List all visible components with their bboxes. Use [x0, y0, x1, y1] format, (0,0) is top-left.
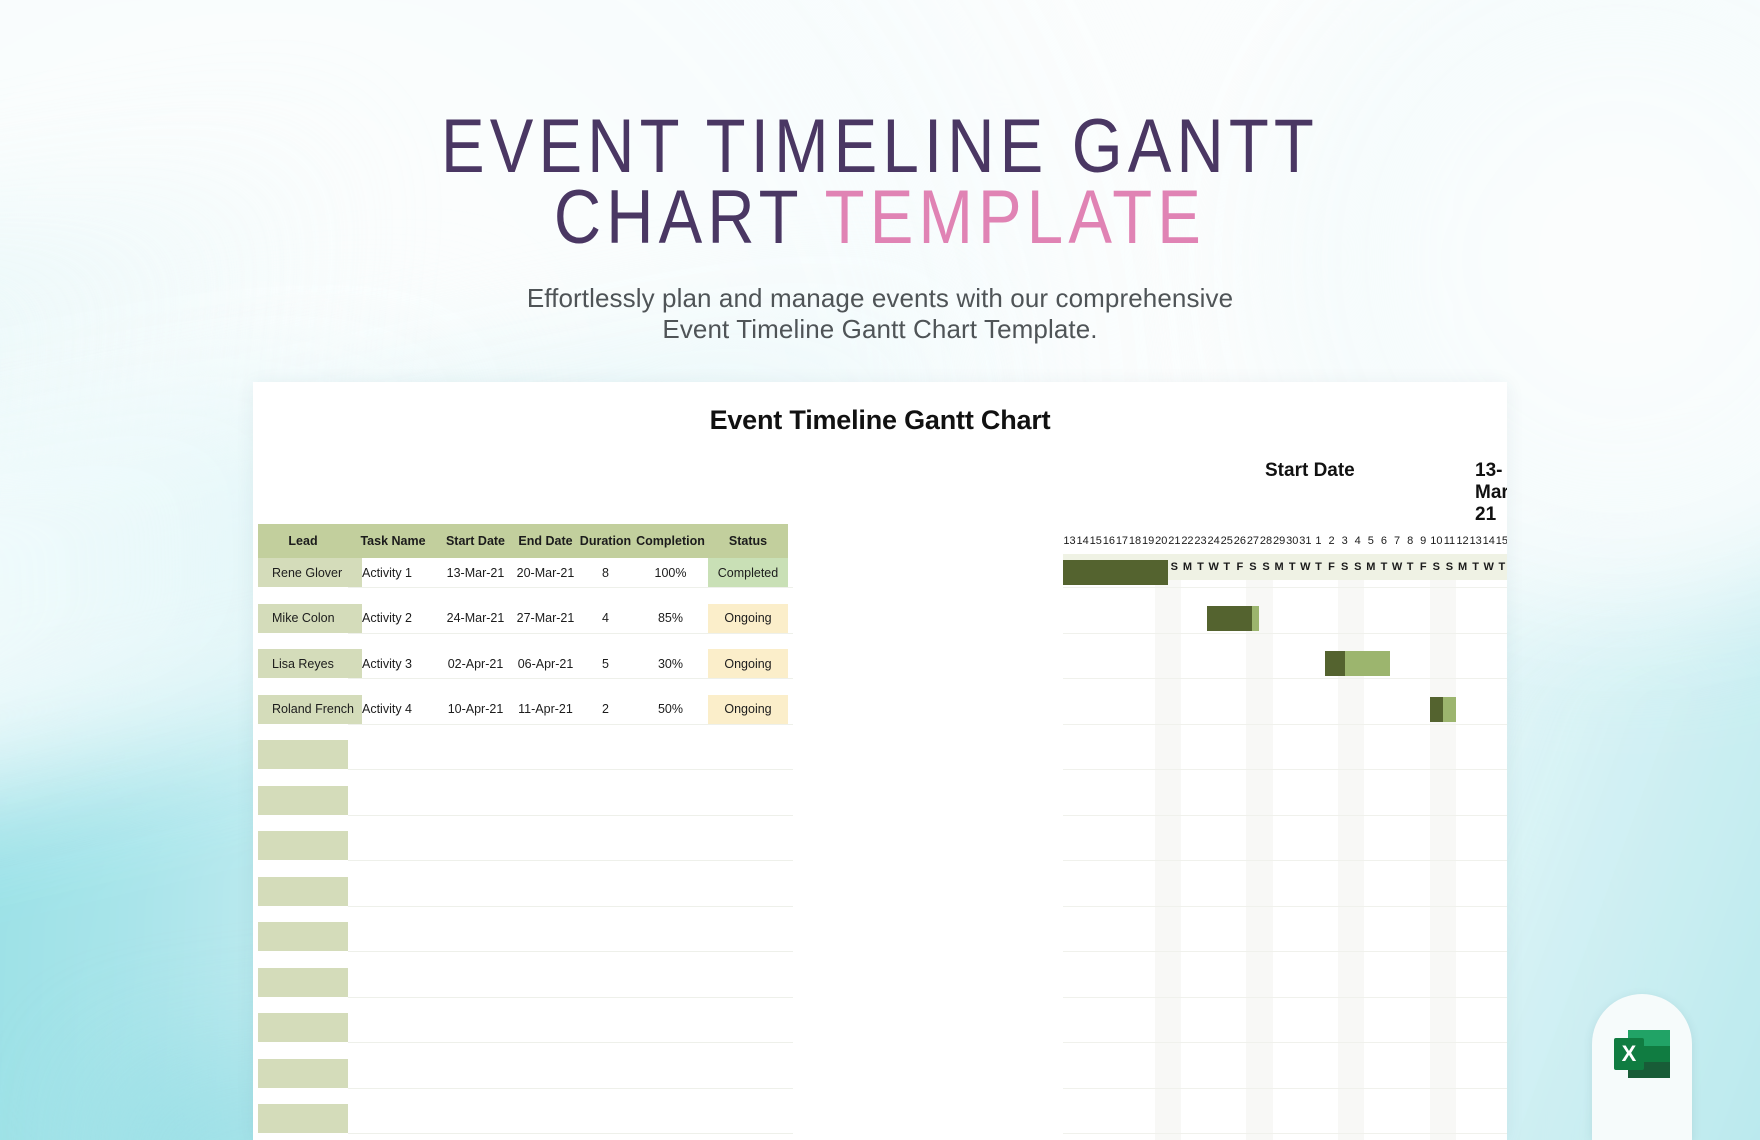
day-letter: T [1194, 554, 1207, 580]
date-number: 22 [1181, 528, 1194, 554]
date-number: 2 [1325, 528, 1338, 554]
status-badge[interactable]: Completed [708, 558, 788, 587]
column-header-status[interactable]: Status [708, 524, 788, 558]
date-number: 6 [1377, 528, 1390, 554]
date-number: 4 [1351, 528, 1364, 554]
date-number: 24 [1207, 528, 1220, 554]
day-letter: S [1430, 554, 1443, 580]
date-number: 27 [1246, 528, 1259, 554]
column-header-duration[interactable]: Duration [578, 524, 633, 558]
empty-lead-cell[interactable] [258, 922, 348, 951]
date-number: 10 [1430, 528, 1443, 554]
gantt-bar[interactable] [1063, 560, 1168, 585]
cell-task[interactable]: Activity 4 [348, 695, 452, 724]
status-badge[interactable]: Ongoing [708, 695, 788, 724]
day-letter: T [1377, 554, 1390, 580]
row-divider [348, 678, 793, 679]
gantt-plot-area [1063, 580, 1507, 1140]
column-header-lead[interactable]: Lead [258, 524, 348, 558]
empty-lead-cell[interactable] [258, 1013, 348, 1042]
page-subtitle-line2: Event Timeline Gantt Chart Template. [662, 314, 1097, 344]
row-divider [348, 1042, 793, 1043]
day-letter: W [1482, 554, 1495, 580]
row-divider [348, 633, 793, 634]
cell-lead[interactable]: Rene Glover [258, 558, 362, 587]
cell-end[interactable]: 06-Apr-21 [513, 649, 578, 678]
day-letter: T [1404, 554, 1417, 580]
date-number: 12 [1456, 528, 1469, 554]
date-number: 30 [1286, 528, 1299, 554]
empty-lead-cell[interactable] [258, 877, 348, 906]
day-letter: M [1364, 554, 1377, 580]
row-divider [348, 997, 793, 998]
day-letter: M [1181, 554, 1194, 580]
row-divider [348, 906, 793, 907]
page-header: EVENT TIMELINE GANTT CHART TEMPLATE Effo… [0, 0, 1760, 345]
day-letter: S [1260, 554, 1273, 580]
date-number: 13 [1063, 528, 1076, 554]
column-header-task-name[interactable]: Task Name [348, 524, 438, 558]
day-letter: W [1299, 554, 1312, 580]
date-number: 5 [1364, 528, 1377, 554]
cell-task[interactable]: Activity 2 [348, 604, 452, 633]
row-divider [348, 1133, 793, 1134]
day-letter: S [1338, 554, 1351, 580]
date-number: 26 [1233, 528, 1246, 554]
gantt-bar-completed-portion [1325, 651, 1345, 676]
gantt-row-divider [1063, 678, 1507, 679]
gantt-bar-completed-portion [1207, 606, 1252, 631]
gantt-row-divider [1063, 860, 1507, 861]
day-letter: T [1495, 554, 1507, 580]
empty-lead-cell[interactable] [258, 831, 348, 860]
gantt-bar[interactable] [1430, 697, 1456, 722]
gantt-row-divider [1063, 769, 1507, 770]
row-divider [348, 860, 793, 861]
date-number: 9 [1417, 528, 1430, 554]
column-header-completion[interactable]: Completion [633, 524, 708, 558]
day-letter: M [1273, 554, 1286, 580]
gantt-row-divider [1063, 1088, 1507, 1089]
date-number: 15 [1089, 528, 1102, 554]
empty-lead-cell[interactable] [258, 1104, 348, 1133]
gantt-row-divider [1063, 1042, 1507, 1043]
date-number: 19 [1142, 528, 1155, 554]
row-divider [348, 769, 793, 770]
gantt-row-divider [1063, 633, 1507, 634]
spreadsheet-card: Event Timeline Gantt Chart Start Date 13… [253, 382, 1507, 1140]
row-divider [348, 724, 793, 725]
excel-file-badge[interactable]: X [1592, 994, 1692, 1140]
day-letter: F [1233, 554, 1246, 580]
cell-duration[interactable]: 2 [578, 695, 633, 724]
day-letter: F [1325, 554, 1338, 580]
day-letter: S [1351, 554, 1364, 580]
date-number: 20 [1155, 528, 1168, 554]
cell-duration[interactable]: 5 [578, 649, 633, 678]
cell-task[interactable]: Activity 1 [348, 558, 452, 587]
date-number: 16 [1102, 528, 1115, 554]
date-number-strip: 1314151617181920212223242526272829303112… [1063, 528, 1507, 554]
date-number: 1 [1312, 528, 1325, 554]
date-number: 25 [1220, 528, 1233, 554]
date-number: 11 [1443, 528, 1456, 554]
gantt-bar-remaining-portion [1443, 697, 1456, 722]
cell-duration[interactable]: 4 [578, 604, 633, 633]
cell-completion[interactable]: 30% [633, 649, 708, 678]
gantt-row-divider [1063, 906, 1507, 907]
gantt-bar[interactable] [1207, 606, 1259, 631]
gantt-row-divider [1063, 951, 1507, 952]
day-letter: S [1443, 554, 1456, 580]
cell-start[interactable]: 13-Mar-21 [438, 558, 513, 587]
day-letter: S [1246, 554, 1259, 580]
day-letter: W [1207, 554, 1220, 580]
svg-text:X: X [1622, 1041, 1637, 1066]
row-divider [348, 815, 793, 816]
date-number: 18 [1129, 528, 1142, 554]
cell-task[interactable]: Activity 3 [348, 649, 452, 678]
date-number: 3 [1338, 528, 1351, 554]
gantt-bar-completed-portion [1063, 560, 1168, 585]
cell-start[interactable]: 02-Apr-21 [438, 649, 513, 678]
date-number: 23 [1194, 528, 1207, 554]
date-number: 15 [1495, 528, 1507, 554]
cell-lead[interactable]: Roland French [258, 695, 362, 724]
page-title-line2: CHART [554, 175, 825, 260]
empty-lead-cell[interactable] [258, 740, 348, 769]
date-number: 17 [1115, 528, 1128, 554]
cell-completion[interactable]: 100% [633, 558, 708, 587]
date-number: 7 [1391, 528, 1404, 554]
date-number: 14 [1482, 528, 1495, 554]
cell-completion[interactable]: 85% [633, 604, 708, 633]
gantt-bar-completed-portion [1430, 697, 1443, 722]
cell-completion[interactable]: 50% [633, 695, 708, 724]
column-header-start-date[interactable]: Start Date [438, 524, 513, 558]
day-letter: T [1469, 554, 1482, 580]
row-divider [348, 951, 793, 952]
cell-start[interactable]: 10-Apr-21 [438, 695, 513, 724]
day-letter: F [1417, 554, 1430, 580]
row-divider [348, 1088, 793, 1089]
column-header-end-date[interactable]: End Date [513, 524, 578, 558]
cell-end[interactable]: 20-Mar-21 [513, 558, 578, 587]
gantt-bar[interactable] [1325, 651, 1391, 676]
day-letter: T [1286, 554, 1299, 580]
day-letter: M [1456, 554, 1469, 580]
gantt-row-divider [1063, 815, 1507, 816]
page-subtitle: Effortlessly plan and manage events with… [0, 253, 1760, 344]
gantt-row-divider [1063, 587, 1507, 588]
status-badge[interactable]: Ongoing [708, 604, 788, 633]
cell-start[interactable]: 24-Mar-21 [438, 604, 513, 633]
day-letter: W [1391, 554, 1404, 580]
empty-lead-cell[interactable] [258, 786, 348, 815]
page-title-template-word: TEMPLATE [825, 175, 1206, 260]
cell-end[interactable]: 27-Mar-21 [513, 604, 578, 633]
status-badge[interactable]: Ongoing [708, 649, 788, 678]
date-number: 13 [1469, 528, 1482, 554]
date-number: 8 [1404, 528, 1417, 554]
gantt-grid: 1314151617181920212223242526272829303112… [253, 382, 1507, 1140]
microsoft-excel-icon: X [1610, 1024, 1674, 1088]
cell-lead[interactable]: Lisa Reyes [258, 649, 362, 678]
day-letter: T [1220, 554, 1233, 580]
empty-lead-cell[interactable] [258, 968, 348, 997]
day-letter: S [1168, 554, 1181, 580]
date-number: 31 [1299, 528, 1312, 554]
empty-lead-cell[interactable] [258, 1059, 348, 1088]
date-number: 29 [1273, 528, 1286, 554]
date-number: 21 [1168, 528, 1181, 554]
date-number: 28 [1260, 528, 1273, 554]
page-title: EVENT TIMELINE GANTT CHART TEMPLATE [123, 0, 1637, 253]
gantt-row-divider [1063, 724, 1507, 725]
cell-end[interactable]: 11-Apr-21 [513, 695, 578, 724]
row-divider [348, 587, 793, 588]
date-number: 14 [1076, 528, 1089, 554]
gantt-bar-remaining-portion [1252, 606, 1260, 631]
gantt-row-divider [1063, 997, 1507, 998]
day-letter: T [1312, 554, 1325, 580]
page-subtitle-line1: Effortlessly plan and manage events with… [527, 283, 1233, 313]
cell-lead[interactable]: Mike Colon [258, 604, 362, 633]
cell-duration[interactable]: 8 [578, 558, 633, 587]
gantt-bar-remaining-portion [1345, 651, 1391, 676]
gantt-row-divider [1063, 1133, 1507, 1134]
